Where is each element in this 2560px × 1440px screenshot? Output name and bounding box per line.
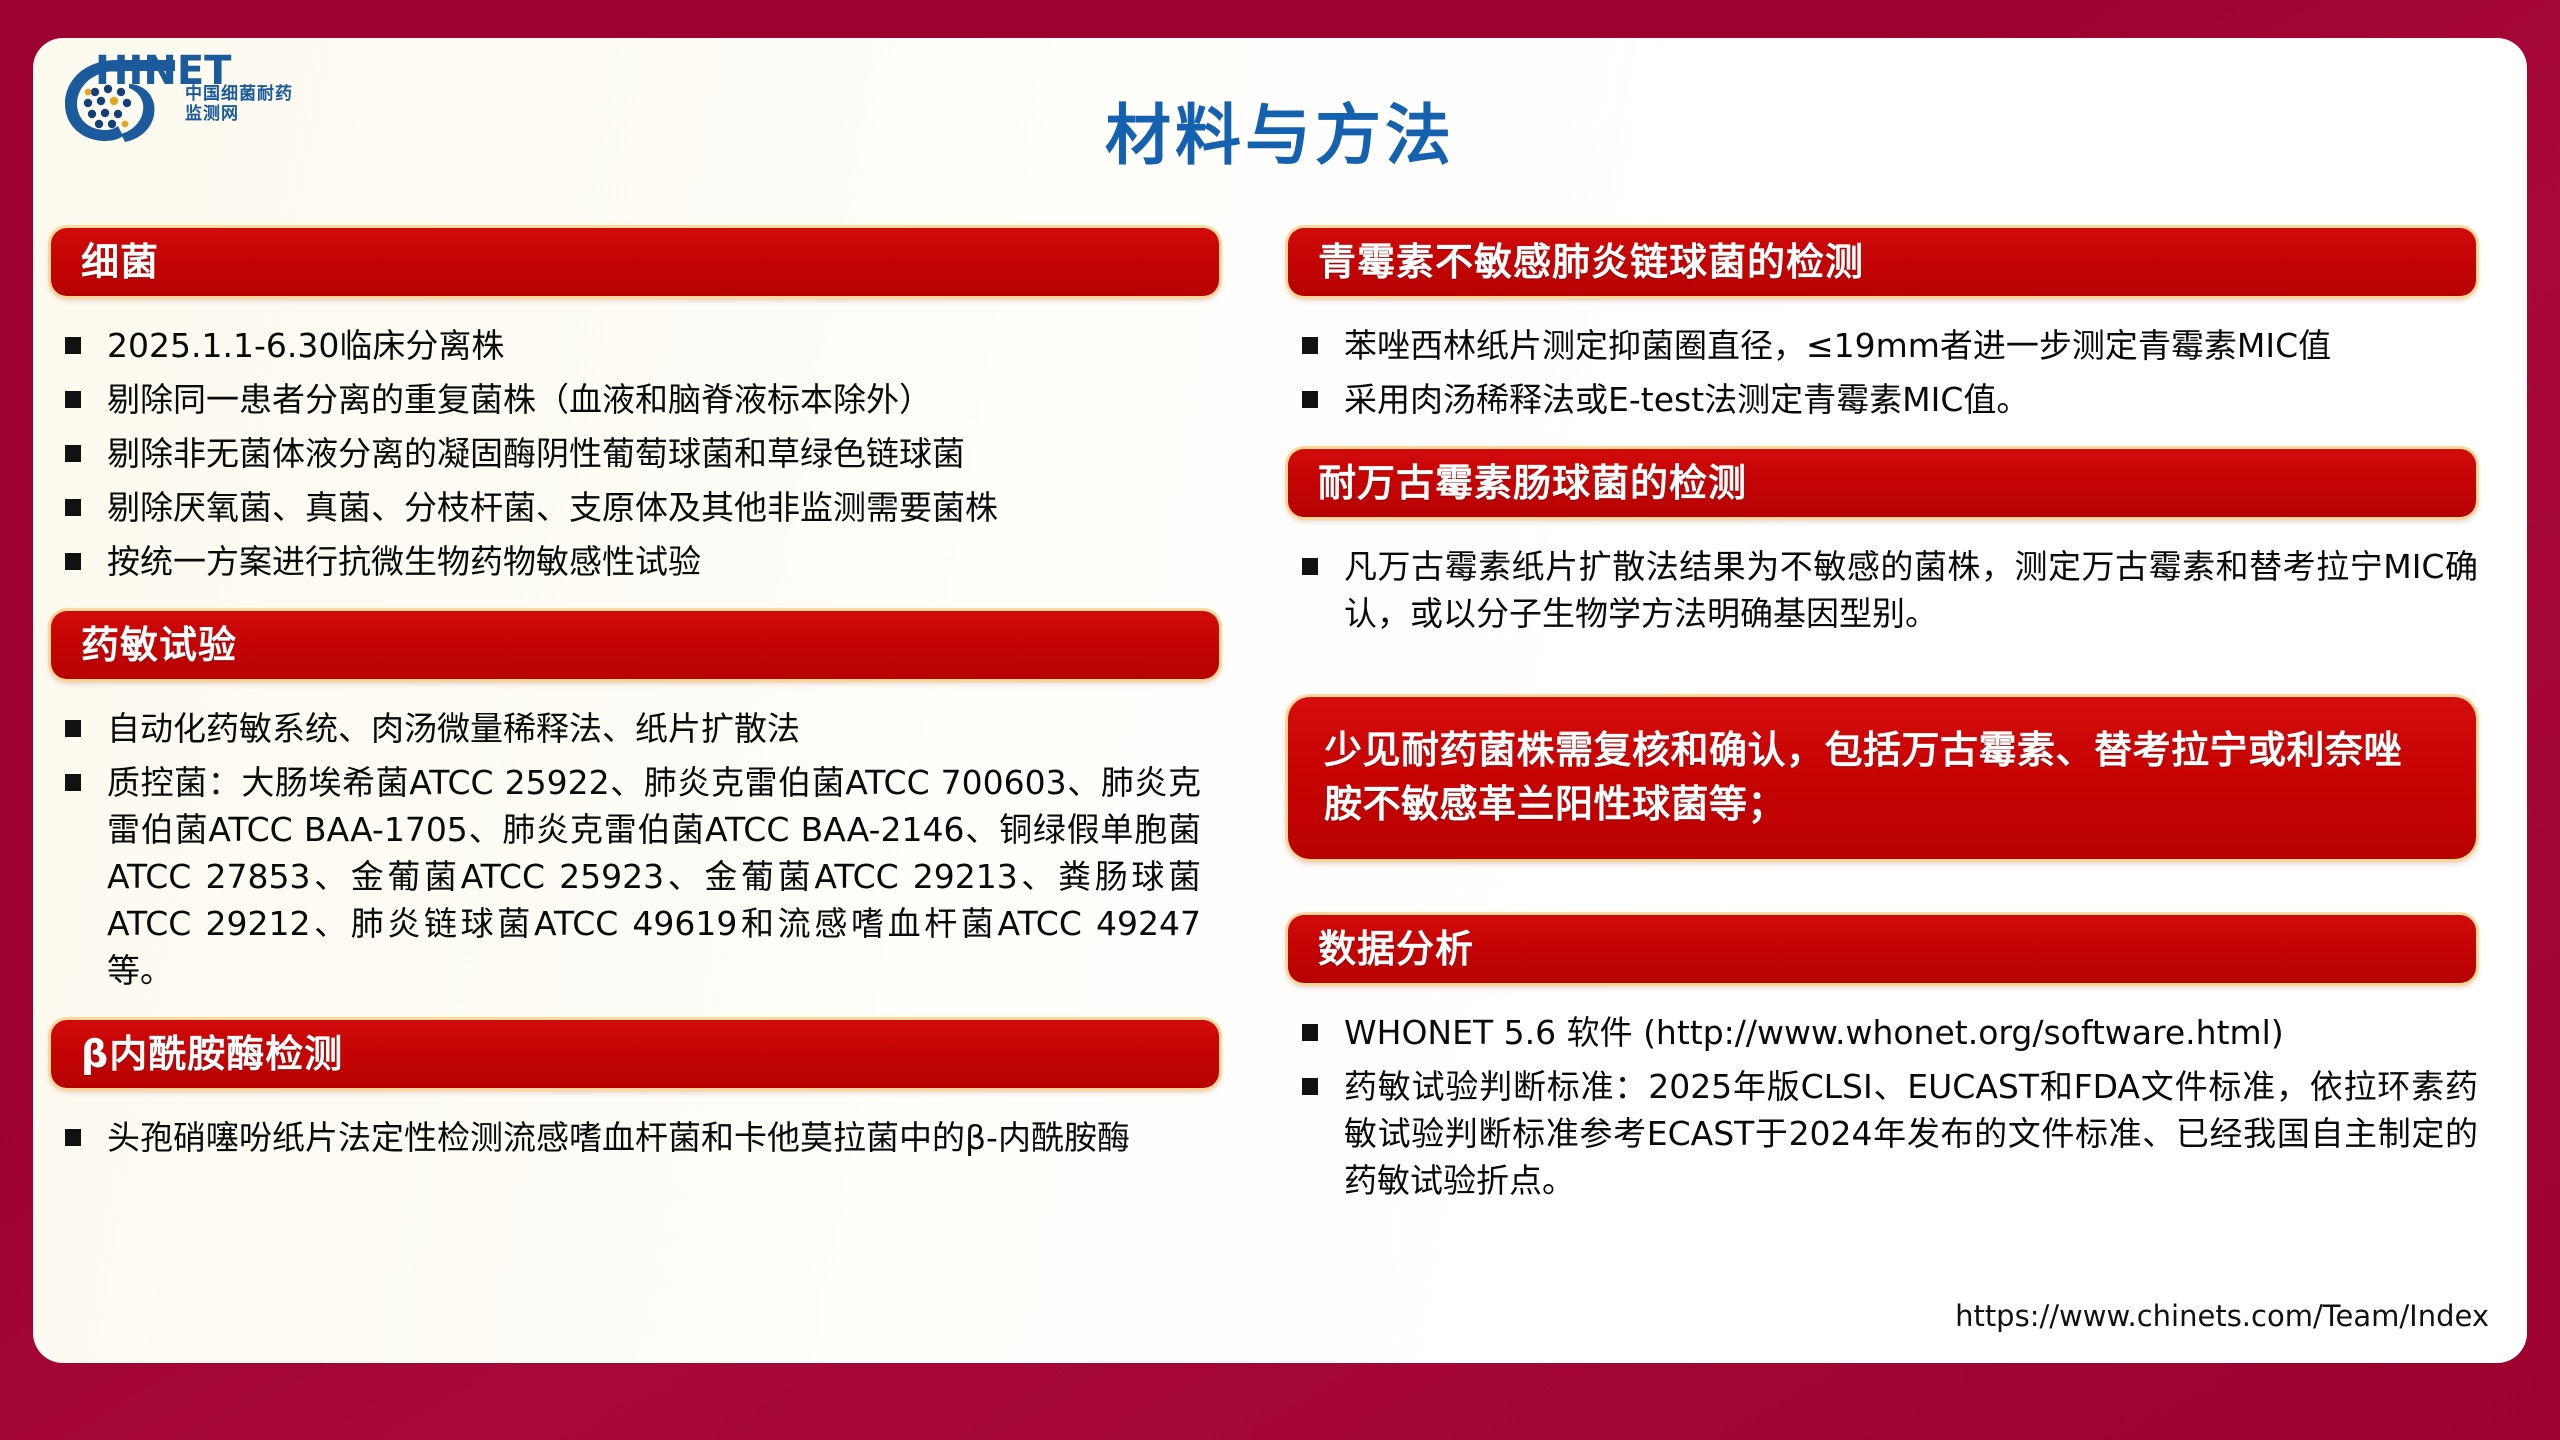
spacer — [1288, 663, 2488, 697]
square-bullet-icon — [65, 337, 81, 354]
list-item: 质控菌：大肠埃希菌ATCC 25922、肺炎克雷伯菌ATCC 700603、肺炎… — [51, 759, 1201, 994]
square-bullet-icon — [65, 553, 81, 570]
square-bullet-icon — [65, 391, 81, 408]
list-item-text: 凡万古霉素纸片扩散法结果为不敏感的菌株，测定万古霉素和替考拉宁MIC确认，或以分… — [1344, 547, 2478, 633]
square-bullet-icon — [65, 445, 81, 462]
list-item: 采用肉汤稀释法或E-test法测定青霉素MIC值。 — [1288, 376, 2478, 423]
section-header-data-analysis: 数据分析 — [1288, 915, 2476, 983]
bullet-list-bacteria: 2025.1.1-6.30临床分离株 剔除同一患者分离的重复菌株（血液和脑脊液标… — [51, 322, 1231, 585]
list-item: 凡万古霉素纸片扩散法结果为不敏感的菌株，测定万古霉素和替考拉宁MIC确认，或以分… — [1288, 543, 2478, 637]
list-item-text: 药敏试验判断标准：2025年版CLSI、EUCAST和FDA文件标准，依拉环素药… — [1344, 1067, 2478, 1200]
bullet-list-beta-lactamase: 头孢硝噻吩纸片法定性检测流感嗜血杆菌和卡他莫拉菌中的β-内酰胺酶 — [51, 1114, 1231, 1161]
section-header-beta-lactamase: β内酰胺酶检测 — [51, 1020, 1219, 1088]
section-header-vancomycin-resistant: 耐万古霉素肠球菌的检测 — [1288, 449, 2476, 517]
list-item-text: 剔除厌氧菌、真菌、分枝杆菌、支原体及其他非监测需要菌株 — [107, 488, 998, 527]
right-column: 青霉素不敏感肺炎链球菌的检测 苯唑西林纸片测定抑菌圈直径，≤19mm者进一步测定… — [1288, 228, 2488, 1230]
section-header-penicillin-nonsusceptible: 青霉素不敏感肺炎链球菌的检测 — [1288, 228, 2476, 296]
square-bullet-icon — [65, 1129, 81, 1146]
footer-url: https://www.chinets.com/Team/Index — [1955, 1299, 2489, 1333]
square-bullet-icon — [65, 499, 81, 516]
list-item-text: 自动化药敏系统、肉汤微量稀释法、纸片扩散法 — [107, 709, 800, 748]
list-item-text: 头孢硝噻吩纸片法定性检测流感嗜血杆菌和卡他莫拉菌中的β-内酰胺酶 — [107, 1118, 1130, 1157]
left-column: 细菌 2025.1.1-6.30临床分离株 剔除同一患者分离的重复菌株（血液和脑… — [51, 228, 1231, 1187]
bullet-list-susceptibility-test: 自动化药敏系统、肉汤微量稀释法、纸片扩散法 质控菌：大肠埃希菌ATCC 2592… — [51, 705, 1231, 994]
list-item: WHONET 5.6 软件 (http://www.whonet.org/sof… — [1288, 1009, 2478, 1056]
list-item-text: 苯唑西林纸片测定抑菌圈直径，≤19mm者进一步测定青霉素MIC值 — [1344, 326, 2331, 365]
list-item-text: 质控菌：大肠埃希菌ATCC 25922、肺炎克雷伯菌ATCC 700603、肺炎… — [107, 763, 1201, 990]
square-bullet-icon — [65, 774, 81, 791]
bullet-list-data-analysis: WHONET 5.6 软件 (http://www.whonet.org/sof… — [1288, 1009, 2488, 1204]
list-item: 自动化药敏系统、肉汤微量稀释法、纸片扩散法 — [51, 705, 1201, 752]
bullet-list-vancomycin-resistant: 凡万古霉素纸片扩散法结果为不敏感的菌株，测定万古霉素和替考拉宁MIC确认，或以分… — [1288, 543, 2488, 637]
list-item-text: 2025.1.1-6.30临床分离株 — [107, 326, 504, 365]
list-item: 2025.1.1-6.30临床分离株 — [51, 322, 1201, 369]
square-bullet-icon — [1302, 1078, 1318, 1095]
section-header-bacteria: 细菌 — [51, 228, 1219, 296]
slide-panel: HINET 中国细菌耐药 监测网 材料与方法 细菌 2025.1.1-6.30临… — [33, 38, 2527, 1363]
list-item: 剔除非无菌体液分离的凝固酶阴性葡萄球菌和草绿色链球菌 — [51, 430, 1201, 477]
list-item-text: 剔除同一患者分离的重复菌株（血液和脑脊液标本除外） — [107, 380, 932, 419]
page-title: 材料与方法 — [33, 82, 2527, 178]
square-bullet-icon — [1302, 391, 1318, 408]
square-bullet-icon — [65, 720, 81, 737]
list-item: 苯唑西林纸片测定抑菌圈直径，≤19mm者进一步测定青霉素MIC值 — [1288, 322, 2478, 369]
square-bullet-icon — [1302, 337, 1318, 354]
list-item: 按统一方案进行抗微生物药物敏感性试验 — [51, 538, 1201, 585]
section-header-susceptibility-test: 药敏试验 — [51, 611, 1219, 679]
list-item: 头孢硝噻吩纸片法定性检测流感嗜血杆菌和卡他莫拉菌中的β-内酰胺酶 — [51, 1114, 1201, 1161]
list-item-text: WHONET 5.6 软件 (http://www.whonet.org/sof… — [1344, 1013, 2284, 1052]
list-item-text: 按统一方案进行抗微生物药物敏感性试验 — [107, 542, 701, 581]
callout-rare-resistant-strains: 少见耐药菌株需复核和确认，包括万古霉素、替考拉宁或利奈唑胺不敏感革兰阳性球菌等； — [1288, 697, 2476, 859]
square-bullet-icon — [1302, 1024, 1318, 1041]
list-item-text: 采用肉汤稀释法或E-test法测定青霉素MIC值。 — [1344, 380, 2029, 419]
list-item: 剔除厌氧菌、真菌、分枝杆菌、支原体及其他非监测需要菌株 — [51, 484, 1201, 531]
list-item: 剔除同一患者分离的重复菌株（血液和脑脊液标本除外） — [51, 376, 1201, 423]
list-item: 药敏试验判断标准：2025年版CLSI、EUCAST和FDA文件标准，依拉环素药… — [1288, 1063, 2478, 1204]
bullet-list-penicillin-nonsusceptible: 苯唑西林纸片测定抑菌圈直径，≤19mm者进一步测定青霉素MIC值 采用肉汤稀释法… — [1288, 322, 2488, 423]
list-item-text: 剔除非无菌体液分离的凝固酶阴性葡萄球菌和草绿色链球菌 — [107, 434, 965, 473]
square-bullet-icon — [1302, 558, 1318, 575]
